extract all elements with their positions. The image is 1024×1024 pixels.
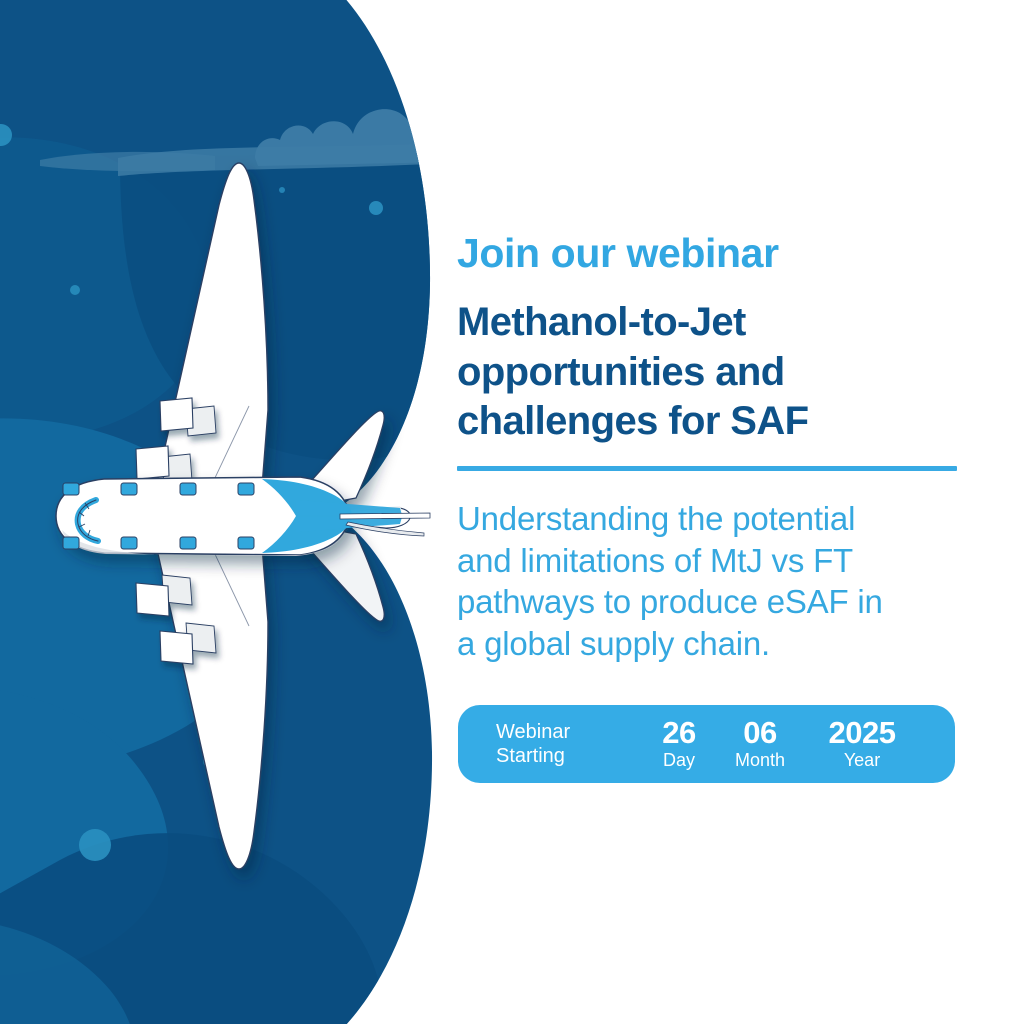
artwork-panel — [0, 0, 470, 1024]
date-year-value: 2025 — [806, 717, 918, 748]
webinar-date-bar: Webinar Starting 26 Day 06 Month 2025 Ye… — [458, 705, 955, 783]
date-year-cell: 2025 Year — [806, 717, 918, 772]
subhead-line-4: a global supply chain. — [457, 623, 957, 665]
page-title: Methanol-to-Jet opportunities and challe… — [457, 298, 927, 447]
subhead-line-1: Understanding the potential — [457, 498, 957, 540]
date-month-label: Month — [714, 749, 806, 772]
subhead-line-2: and limitations of MtJ vs FT — [457, 540, 957, 582]
date-bar-label-line1: Webinar — [496, 720, 644, 744]
divider-rule — [457, 466, 957, 471]
headline-line-3: challenges for SAF — [457, 397, 927, 447]
subtitle-text: Understanding the potential and limitati… — [457, 498, 957, 664]
date-year-label: Year — [806, 749, 918, 772]
date-bar-label-line2: Starting — [496, 744, 644, 768]
headline-line-1: Methanol-to-Jet — [457, 298, 927, 348]
content-panel: Join our webinar Methanol-to-Jet opportu… — [455, 0, 975, 1024]
subhead-line-3: pathways to produce eSAF in — [457, 581, 957, 623]
eyebrow-text: Join our webinar — [457, 232, 977, 275]
headline-line-2: opportunities and — [457, 348, 927, 398]
date-bar-label: Webinar Starting — [496, 720, 644, 769]
date-day-value: 26 — [644, 717, 714, 748]
date-day-label: Day — [644, 749, 714, 772]
webinar-poster: Join our webinar Methanol-to-Jet opportu… — [0, 0, 1024, 1024]
date-month-value: 06 — [714, 717, 806, 748]
date-day-cell: 26 Day — [644, 717, 714, 772]
date-month-cell: 06 Month — [714, 717, 806, 772]
